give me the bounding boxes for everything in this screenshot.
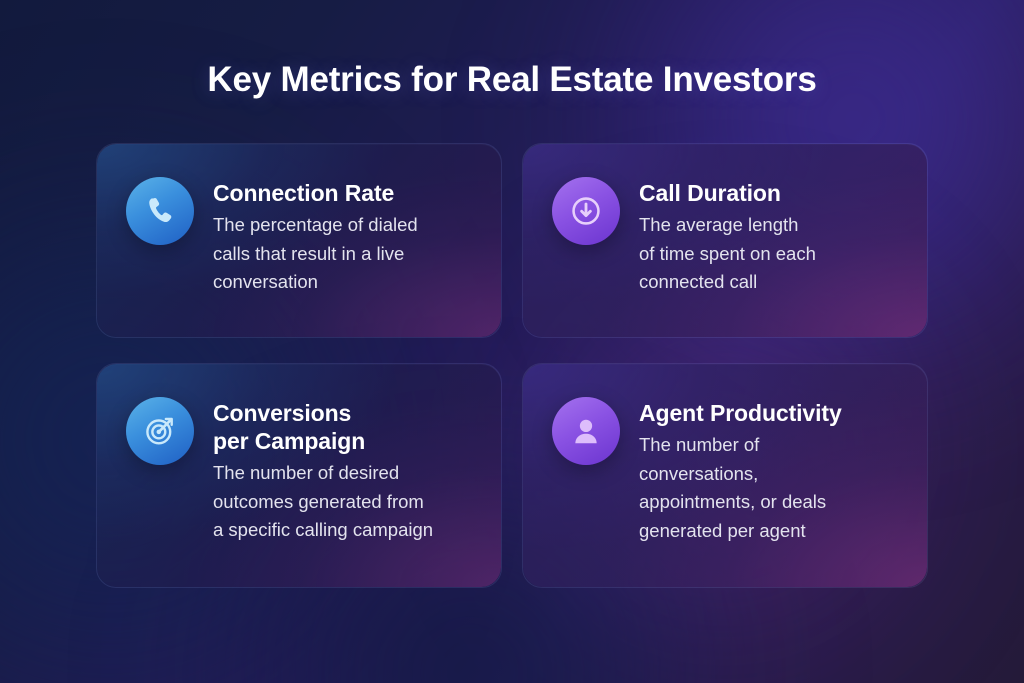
page-title: Key Metrics for Real Estate Investors	[0, 60, 1024, 100]
metric-card-conversions-per-campaign[interactable]: Conversions per Campaign The number of d…	[96, 363, 502, 588]
card-title: Conversions per Campaign	[213, 399, 433, 455]
metric-card-connection-rate[interactable]: Connection Rate The percentage of dialed…	[96, 143, 502, 338]
metric-card-agent-productivity[interactable]: Agent Productivity The number of convers…	[522, 363, 928, 588]
card-text: Call Duration The average length of time…	[639, 177, 816, 297]
user-icon	[552, 397, 620, 465]
metrics-grid: Connection Rate The percentage of dialed…	[96, 143, 928, 588]
phone-icon	[126, 177, 194, 245]
card-description: The percentage of dialed calls that resu…	[213, 211, 418, 297]
card-text: Conversions per Campaign The number of d…	[213, 397, 433, 545]
card-description: The number of desired outcomes generated…	[213, 459, 433, 545]
card-text: Connection Rate The percentage of dialed…	[213, 177, 418, 297]
card-text: Agent Productivity The number of convers…	[639, 397, 842, 546]
target-arrow-icon	[126, 397, 194, 465]
card-description: The number of conversations, appointment…	[639, 431, 842, 546]
card-title: Call Duration	[639, 179, 816, 207]
metric-card-call-duration[interactable]: Call Duration The average length of time…	[522, 143, 928, 338]
card-description: The average length of time spent on each…	[639, 211, 816, 297]
card-title: Connection Rate	[213, 179, 418, 207]
clock-arrow-down-icon	[552, 177, 620, 245]
card-title: Agent Productivity	[639, 399, 842, 427]
